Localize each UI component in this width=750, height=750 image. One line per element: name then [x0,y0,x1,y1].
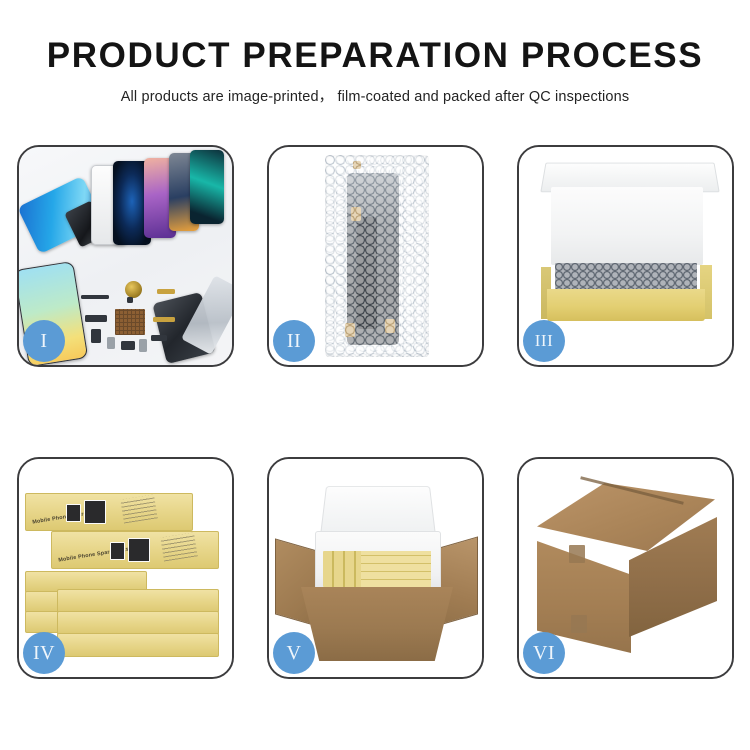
stacked-box [57,589,219,613]
part-chip [121,341,135,350]
part-chip [139,339,147,352]
part-chip [91,329,101,343]
part-chip [153,317,175,322]
carton-tape-upper [569,545,585,563]
part-chip [157,289,175,294]
page-title: PRODUCT PREPARATION PROCESS [0,38,750,75]
stacked-box [57,611,219,635]
part-chip [81,295,109,299]
page-header: PRODUCT PREPARATION PROCESS All products… [0,0,750,106]
speaker-module-icon [125,281,142,298]
step-badge-5: V [273,632,315,674]
bubble-wrapped-contents [555,263,697,291]
ic-chip-icon [115,309,145,335]
process-step-panel-1: I [17,145,234,367]
box-window-left [110,542,125,560]
part-chip [151,335,167,341]
spare-parts-components [81,279,197,361]
box-front-panel [547,289,705,321]
carton-tape-lower [571,615,587,633]
box-window-right [84,500,106,524]
process-step-panel-6: VI [517,457,734,679]
box-window-right [128,538,150,562]
page-subtitle: All products are image-printed， film-coa… [0,85,750,106]
box-window-left [66,504,81,522]
stacked-box-labeled: Mobile Phone Spare Parts [25,493,193,531]
phone-screen-teal [190,150,224,224]
step-badge-6: VI [523,632,565,674]
process-step-grid: I II III [17,145,734,679]
box-spec-lines [120,494,157,523]
stacked-box [57,633,219,657]
step-badge-4: IV [23,632,65,674]
stacked-box-labeled: Mobile Phone Spare Parts [51,531,219,569]
carton-body [301,587,453,661]
step-badge-3: III [523,320,565,362]
bubble-wrap-texture [325,155,429,357]
part-chip [85,315,107,322]
foam-sheet [551,187,703,265]
part-chip [107,337,115,349]
process-step-panel-5: V [267,457,484,679]
bubble-wrap-bag [325,155,429,357]
process-step-panel-4: Mobile Phone Spare Parts Mobile Phone Sp… [17,457,234,679]
process-step-panel-2: II [267,145,484,367]
process-step-panel-3: III [517,145,734,367]
inner-boxes-row-2 [361,551,431,587]
step-badge-1: I [23,320,65,362]
part-chip [127,297,133,303]
box-spec-lines [160,532,197,561]
step-badge-2: II [273,320,315,362]
